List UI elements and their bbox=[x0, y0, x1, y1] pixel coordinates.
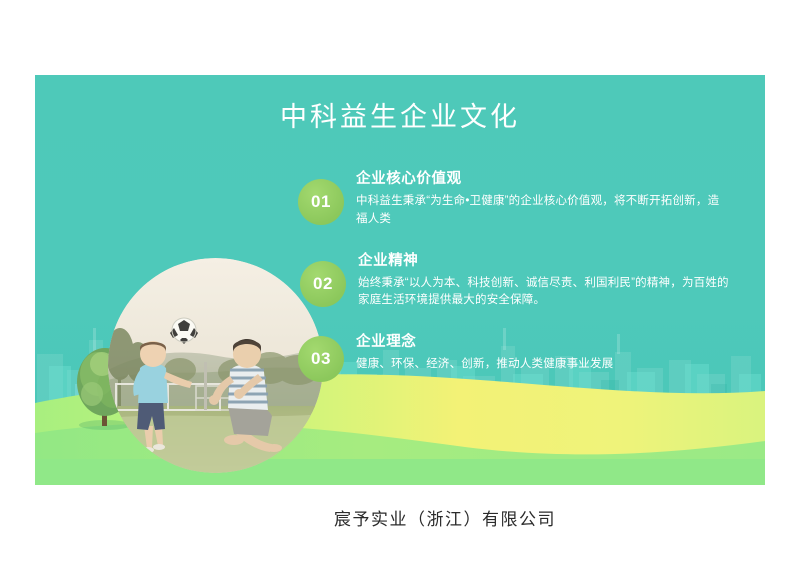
section-text: 健康、环保、经济、创新，推动人类健康事业发展 bbox=[356, 356, 728, 374]
list-item: 03 企业理念 健康、环保、经济、创新，推动人类健康事业发展 bbox=[298, 328, 748, 386]
culture-sections-list: 01 企业核心价值观 中科益生秉承“为生命•卫健康”的企业核心价值观，将不断开拓… bbox=[298, 165, 748, 404]
footer: 宸予实业（浙江）有限公司 bbox=[0, 505, 800, 530]
page-title: 中科益生企业文化 bbox=[35, 101, 765, 133]
section-text: 始终秉承“以人为本、科技创新、诚信尽责、利国利民”的精神，为百姓的家庭生活环境提… bbox=[358, 275, 730, 311]
section-heading: 企业核心价值观 bbox=[356, 167, 748, 188]
section-heading: 企业理念 bbox=[356, 330, 748, 351]
company-name: 宸予实业（浙江）有限公司 bbox=[244, 505, 556, 530]
section-heading: 企业精神 bbox=[358, 249, 748, 270]
slide-canvas: 中科益生企业文化 01 企业核心价值观 中科益生秉承“为生命•卫健康”的企业核心… bbox=[35, 75, 765, 485]
list-item: 01 企业核心价值观 中科益生秉承“为生命•卫健康”的企业核心价值观，将不断开拓… bbox=[298, 165, 748, 229]
list-item: 02 企业精神 始终秉承“以人为本、科技创新、诚信尽责、利国利民”的精神，为百姓… bbox=[298, 247, 748, 311]
section-number-badge: 01 bbox=[298, 179, 344, 225]
section-text: 中科益生秉承“为生命•卫健康”的企业核心价值观，将不断开拓创新，造福人类 bbox=[356, 193, 728, 229]
photo-circle bbox=[108, 258, 323, 473]
section-number-badge: 02 bbox=[300, 261, 346, 307]
section-number-badge: 03 bbox=[298, 336, 344, 382]
